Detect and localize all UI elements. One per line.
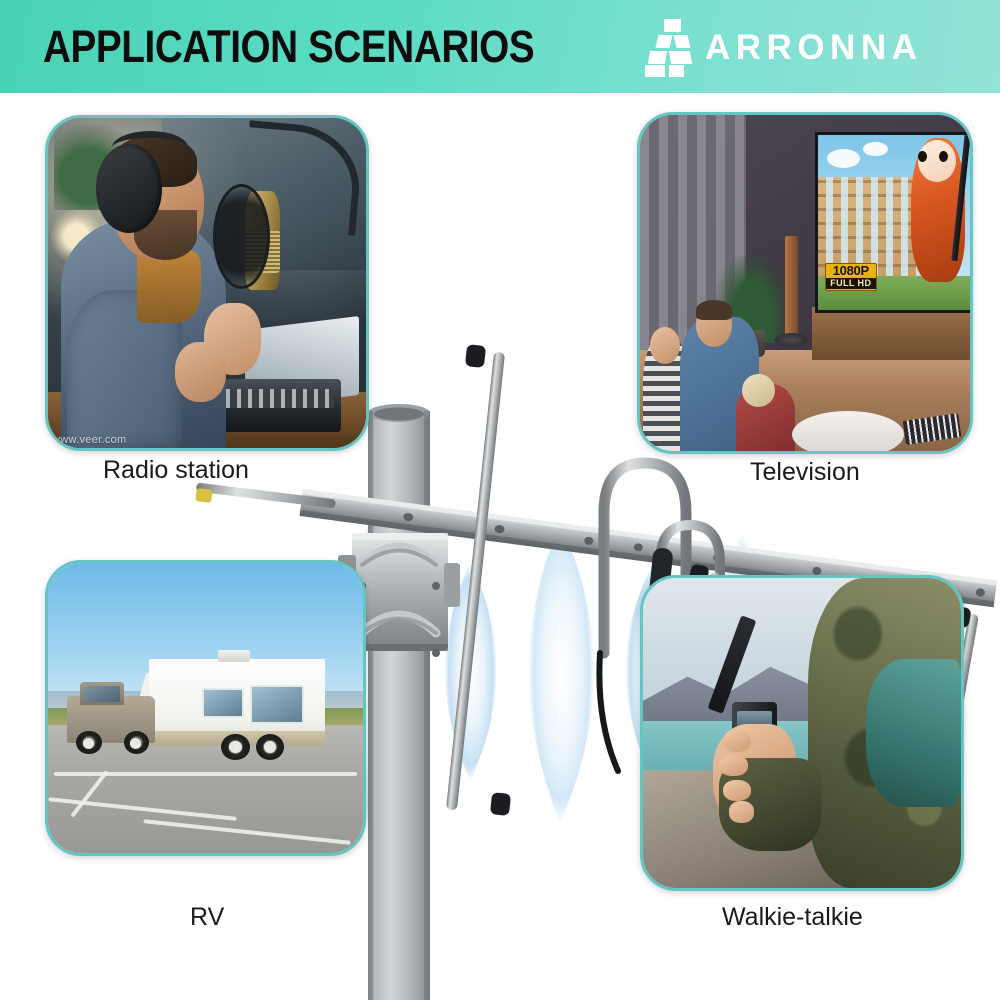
arronna-block-a-logo-icon bbox=[645, 19, 697, 77]
caption-television: Television bbox=[750, 458, 860, 487]
television-photo: 1080P FULL HD bbox=[640, 115, 970, 451]
resolution-badge: 1080P FULL HD bbox=[825, 263, 877, 291]
radio-station-photo: www.veer.com bbox=[48, 118, 366, 448]
image-watermark: www.veer.com bbox=[52, 434, 127, 446]
badge-resolution: 1080P bbox=[826, 264, 876, 278]
page-header: APPLICATION SCENARIOS ARRONNA bbox=[0, 0, 1000, 93]
scenario-card-walkie-talkie[interactable] bbox=[640, 575, 964, 891]
scenario-card-television[interactable]: 1080P FULL HD bbox=[637, 112, 973, 454]
scenario-card-radio-station[interactable]: www.veer.com bbox=[45, 115, 369, 451]
caption-radio-station: Radio station bbox=[103, 456, 249, 485]
caption-walkie-talkie: Walkie-talkie bbox=[722, 903, 863, 932]
scenario-card-rv[interactable] bbox=[45, 560, 366, 856]
application-scenarios-page: APPLICATION SCENARIOS ARRONNA bbox=[0, 0, 1000, 1000]
badge-quality: FULL HD bbox=[826, 278, 876, 289]
caption-rv: RV bbox=[190, 903, 224, 932]
mast-pipe bbox=[368, 404, 430, 1000]
coax-cable bbox=[599, 653, 618, 771]
walkie-talkie-photo bbox=[643, 578, 961, 888]
rv-photo bbox=[48, 563, 363, 853]
page-title: APPLICATION SCENARIOS bbox=[43, 24, 534, 69]
brand-name: ARRONNA bbox=[705, 30, 922, 65]
brand-logo: ARRONNA bbox=[645, 19, 945, 77]
